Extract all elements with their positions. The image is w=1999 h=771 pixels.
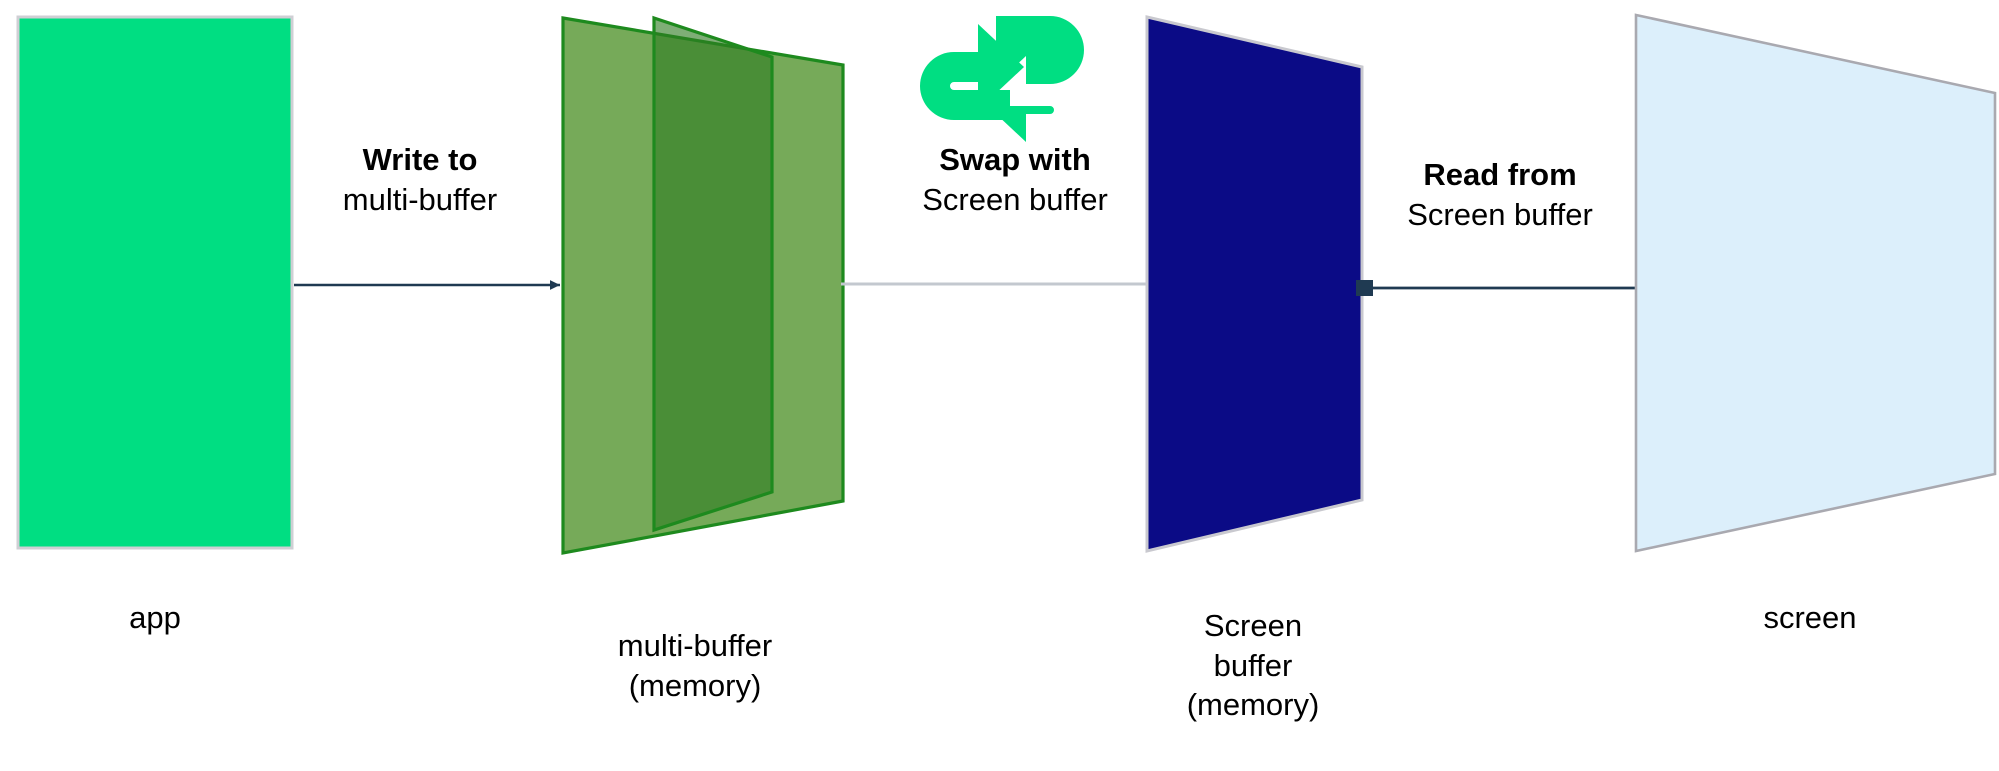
node-label-app: app: [55, 598, 255, 638]
edge-label-write-bold: Write to: [270, 140, 570, 180]
edge-label-swap-bold: Swap with: [870, 140, 1160, 180]
edge-label-swap-with-screenbuffer: Swap with Screen buffer: [870, 140, 1160, 219]
edge-label-write-regular: multi-buffer: [270, 180, 570, 220]
node-label-multibuffer-line2: (memory): [545, 666, 845, 706]
node-screenbuffer-shape[interactable]: [1147, 17, 1362, 551]
node-label-multibuffer: multi-buffer (memory): [545, 626, 845, 705]
edge-label-write-to-multibuffer: Write to multi-buffer: [270, 140, 570, 219]
node-label-screenbuffer: Screen buffer (memory): [1128, 606, 1378, 725]
node-app-shape[interactable]: [18, 17, 292, 548]
node-screen-shape[interactable]: [1636, 15, 1995, 551]
edge-label-read-regular: Screen buffer: [1350, 195, 1650, 235]
node-label-multibuffer-line1: multi-buffer: [545, 626, 845, 666]
node-label-screenbuffer-line3: (memory): [1128, 685, 1378, 725]
node-label-screenbuffer-line1: Screen: [1128, 606, 1378, 646]
swap-loop-icon: [920, 16, 1084, 142]
node-label-screenbuffer-line2: buffer: [1128, 646, 1378, 686]
diagram-graphics: [0, 0, 1999, 771]
node-label-screen: screen: [1710, 598, 1910, 638]
edge-label-read-from-screenbuffer: Read from Screen buffer: [1350, 155, 1650, 234]
edge-label-swap-regular: Screen buffer: [870, 180, 1160, 220]
edge-label-read-bold: Read from: [1350, 155, 1650, 195]
diagram-canvas: Write to multi-buffer Swap with Screen b…: [0, 0, 1999, 771]
node-multibuffer-front-plane[interactable]: [654, 18, 772, 530]
